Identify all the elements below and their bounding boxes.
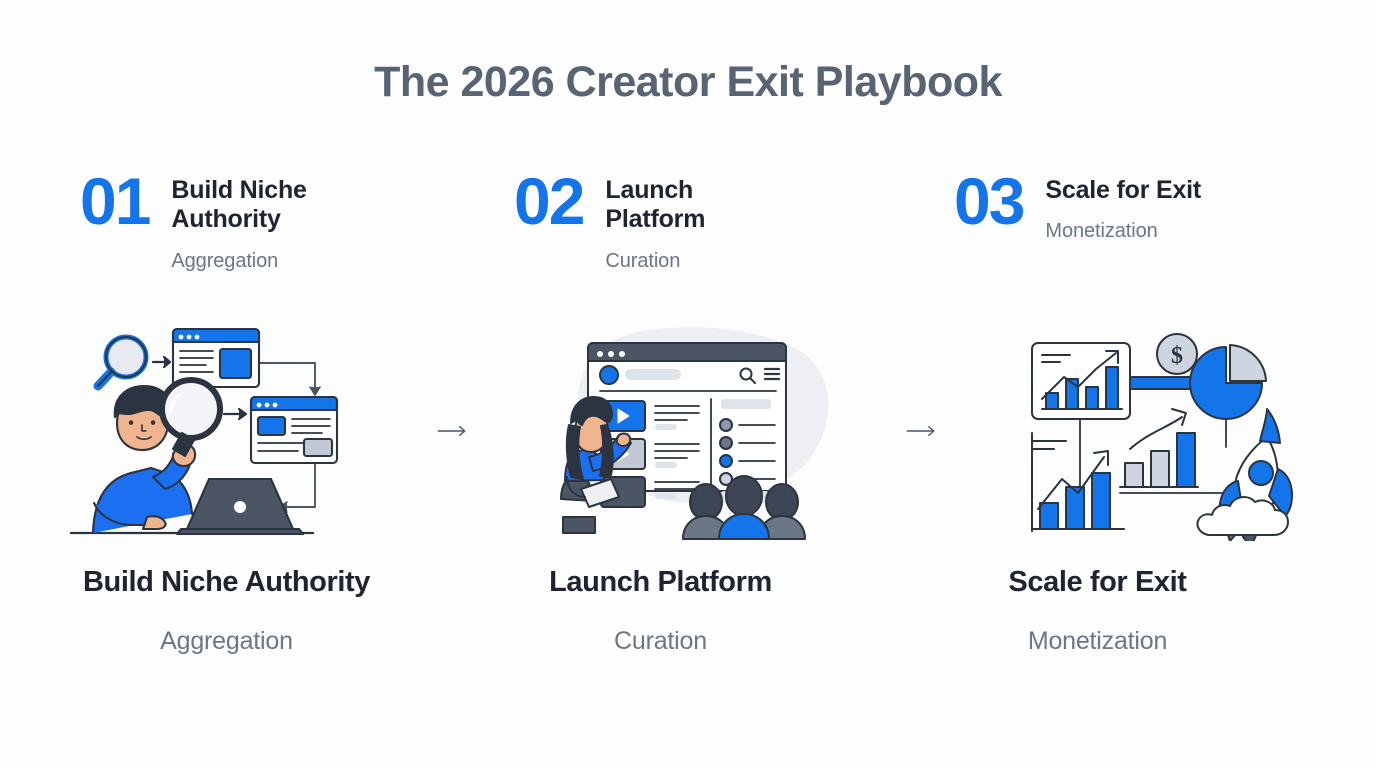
step-header-03: 03 Scale for Exit Monetization xyxy=(874,168,1311,273)
connector-arrow-1 xyxy=(437,318,469,543)
step-header-text-01: Build Niche Authority Aggregation xyxy=(171,168,361,273)
illustration-launch-platform xyxy=(469,318,906,543)
caption-title-03: Scale for Exit xyxy=(884,566,1311,599)
growth-illustration-svg: $ xyxy=(1012,321,1302,541)
step-header-02: 02 Launch Platform Curation xyxy=(437,168,874,273)
infographic-page: The 2026 Creator Exit Playbook 01 Build … xyxy=(0,0,1376,768)
step-number-01: 01 xyxy=(80,170,149,233)
illustration-row: $ xyxy=(0,318,1376,543)
arrow-right-icon xyxy=(906,414,938,448)
caption-block-03: Scale for Exit Monetization xyxy=(874,566,1311,656)
caption-block-01: Build Niche Authority Aggregation xyxy=(0,566,437,656)
step-header-text-02: Launch Platform Curation xyxy=(605,168,795,273)
illustration-scale-for-exit: $ xyxy=(938,318,1375,543)
step-subtitle-02: Curation xyxy=(605,250,795,273)
step-header-row: 01 Build Niche Authority Aggregation 02 … xyxy=(0,168,1376,273)
caption-subtitle-02: Curation xyxy=(447,627,874,656)
step-number-03: 03 xyxy=(954,170,1023,233)
caption-block-02: Launch Platform Curation xyxy=(437,566,874,656)
research-illustration-svg xyxy=(69,321,369,541)
step-header-01: 01 Build Niche Authority Aggregation xyxy=(0,168,437,273)
step-title-02: Launch Platform xyxy=(605,176,795,235)
caption-subtitle-01: Aggregation xyxy=(16,627,437,656)
dollar-symbol: $ xyxy=(1171,343,1183,369)
step-header-text-03: Scale for Exit Monetization xyxy=(1045,168,1201,243)
step-number-02: 02 xyxy=(514,170,583,233)
platform-illustration-svg xyxy=(543,321,833,541)
page-title: The 2026 Creator Exit Playbook xyxy=(0,58,1376,107)
connector-arrow-2 xyxy=(906,318,938,543)
caption-row: Build Niche Authority Aggregation Launch… xyxy=(0,566,1376,656)
caption-title-02: Launch Platform xyxy=(447,566,874,599)
step-title-01: Build Niche Authority xyxy=(171,176,361,235)
caption-title-01: Build Niche Authority xyxy=(16,566,437,599)
step-subtitle-01: Aggregation xyxy=(171,250,361,273)
arrow-right-icon xyxy=(437,414,469,448)
illustration-build-niche-authority xyxy=(0,318,437,543)
caption-subtitle-03: Monetization xyxy=(884,627,1311,656)
step-title-03: Scale for Exit xyxy=(1045,176,1201,205)
step-subtitle-03: Monetization xyxy=(1045,220,1201,243)
